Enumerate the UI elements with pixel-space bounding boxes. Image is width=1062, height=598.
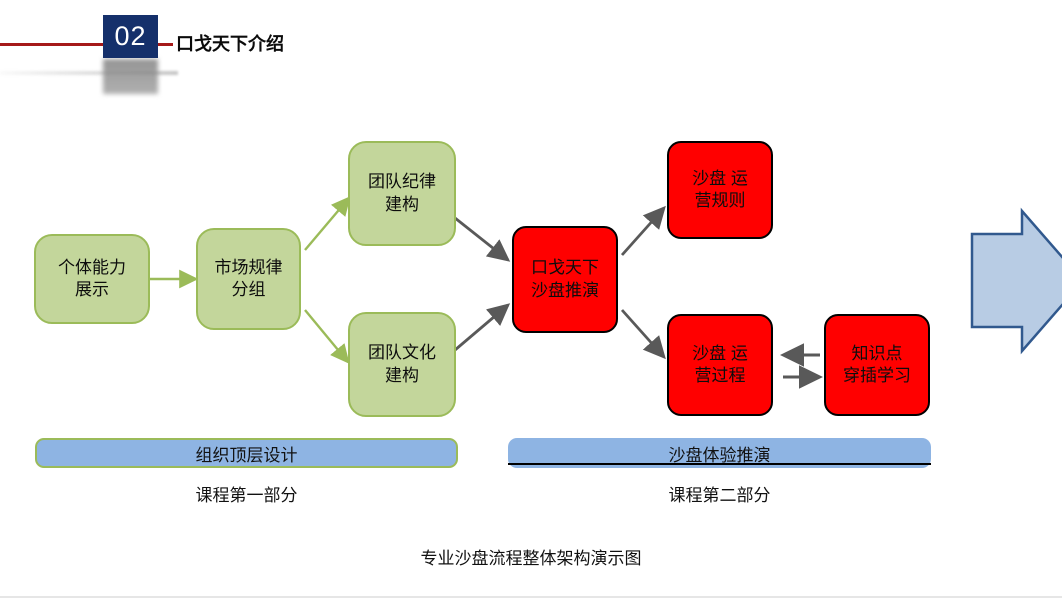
slide-canvas: 02 口戈天下介绍 个体能力 展示 xyxy=(0,0,1062,598)
section-bar-organization-top-design[interactable]: 组织顶层设计 xyxy=(35,438,458,468)
next-section-arrow-icon xyxy=(972,211,1062,351)
section-caption-part-one: 课程第一部分 xyxy=(35,481,458,506)
arrow-discipline-to-sandtable xyxy=(455,218,508,260)
arrow-grouping-to-culture xyxy=(305,310,348,362)
figure-caption: 专业沙盘流程整体架构演示图 xyxy=(0,544,1062,569)
arrow-grouping-to-discipline xyxy=(305,198,349,250)
arrow-sandtable-to-process xyxy=(622,310,664,357)
node-team-culture[interactable]: 团队文化 建构 xyxy=(348,312,456,417)
node-team-discipline[interactable]: 团队纪律 建构 xyxy=(348,141,456,246)
arrow-culture-to-sandtable xyxy=(455,305,508,350)
section-caption-part-two: 课程第二部分 xyxy=(508,481,931,506)
node-operation-process[interactable]: 沙盘 运 营过程 xyxy=(667,314,773,416)
node-knowledge-points[interactable]: 知识点 穿插学习 xyxy=(824,314,930,416)
header-badge-reflection xyxy=(103,59,158,94)
node-operation-rules[interactable]: 沙盘 运 营规则 xyxy=(667,141,773,239)
header-rule-stub xyxy=(157,43,173,46)
node-market-rules-grouping[interactable]: 市场规律 分组 xyxy=(196,228,301,330)
section-number-badge: 02 xyxy=(103,15,158,58)
node-individual-capability[interactable]: 个体能力 展示 xyxy=(34,234,150,324)
section-bar-underline xyxy=(508,463,931,465)
arrow-sandtable-to-rules xyxy=(622,208,664,255)
node-sandtable-deduction[interactable]: 口戈天下 沙盘推演 xyxy=(512,226,618,333)
header-rule-left xyxy=(0,43,106,46)
page-title: 口戈天下介绍 xyxy=(176,30,284,56)
